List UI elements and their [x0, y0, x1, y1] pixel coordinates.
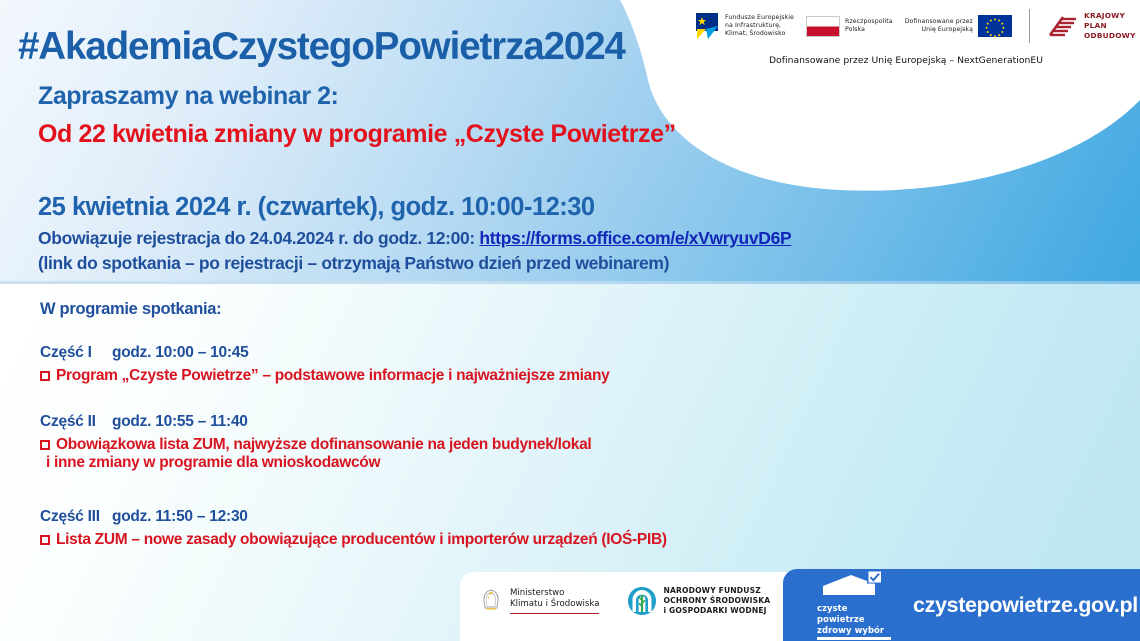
footer-website-panel: czyste powietrze zdrowy wybór czystepowi…	[783, 569, 1140, 641]
eu-funding-subtitle: Dofinansowane przez Unię Europejską – Ne…	[676, 55, 1136, 66]
section-3-item: Lista ZUM – nowe zasady obowiązujące pro…	[40, 531, 667, 549]
program-section-3: Część IIIgodz. 11:50 – 12:30 Lista ZUM –…	[40, 508, 667, 549]
campaign-hashtag: #AkademiaCzystegoPowietrza2024	[18, 25, 625, 69]
nfosigw-line-3: i GOSPODARKI WODNEJ	[663, 606, 770, 616]
header-band: Fundusze Europejskie na Infrastrukturę, …	[0, 0, 1140, 284]
section-1-part-label: Część I	[40, 344, 112, 362]
funds-logo-caption: Fundusze Europejskie na Infrastrukturę, …	[725, 14, 794, 38]
house-check-icon	[817, 570, 891, 596]
ministry-line-2: Klimatu i Środowiska	[510, 599, 599, 610]
section-1-title: Część Igodz. 10:00 – 10:45	[40, 344, 610, 362]
kpo-logo-unit: KRAJOWY PLAN ODBUDOWY	[1047, 11, 1136, 41]
ministry-underline	[510, 613, 599, 615]
cofinanced-caption: Dofinansowane przez Unię Europejską	[905, 18, 973, 34]
republic-of-poland-unit: Rzeczpospolita Polska	[806, 16, 893, 37]
webinar-subject-line: Od 22 kwietnia zmiany w programie „Czyst…	[38, 120, 676, 149]
czyste-powietrze-badge: czyste powietrze zdrowy wybór	[817, 570, 891, 640]
badge-underline	[817, 637, 891, 639]
checkbox-square-icon	[40, 371, 50, 381]
registration-prefix-text: Obowiązuje rejestracja do 24.04.2024 r. …	[38, 228, 479, 248]
nfosigw-caption: NARODOWY FUNDUSZ OCHRONY ŚRODOWISKA i GO…	[663, 586, 770, 616]
polish-eagle-icon	[478, 588, 504, 614]
section-2-part-label: Część II	[40, 413, 112, 431]
section-3-part-label: Część III	[40, 508, 112, 526]
registration-line: Obowiązuje rejestracja do 24.04.2024 r. …	[38, 228, 791, 249]
nfosigw-line-1: NARODOWY FUNDUSZ	[663, 586, 770, 596]
section-3-time: godz. 11:50 – 12:30	[112, 508, 248, 525]
section-2-title: Część IIgodz. 10:55 – 11:40	[40, 413, 591, 431]
section-2-item-continuation: i inne zmiany w programie dla wnioskodaw…	[40, 454, 591, 472]
website-url[interactable]: czystepowietrze.gov.pl	[913, 593, 1138, 618]
eu-logo-row: Fundusze Europejskie na Infrastrukturę, …	[676, 6, 1136, 46]
section-2-item-text: Obowiązkowa lista ZUM, najwyższe dofinan…	[56, 436, 591, 454]
nfosigw-logo-unit: NARODOWY FUNDUSZ OCHRONY ŚRODOWISKA i GO…	[627, 586, 770, 616]
badge-caption: czyste powietrze zdrowy wybór	[817, 603, 891, 640]
funds-logo-unit: Fundusze Europejskie na Infrastrukturę, …	[694, 12, 794, 40]
section-1-item-text: Program „Czyste Powietrze” – podstawowe …	[56, 367, 610, 385]
logo-divider	[1029, 9, 1030, 43]
ministry-caption: Ministerstwo Klimatu i Środowiska	[510, 588, 599, 614]
eu-flag-icon	[978, 15, 1012, 37]
eu-logo-strip: Fundusze Europejskie na Infrastrukturę, …	[676, 6, 1136, 82]
checkbox-square-icon	[40, 535, 50, 545]
checkbox-square-icon	[40, 440, 50, 450]
nfosigw-tree-icon	[627, 586, 657, 616]
section-3-title: Część IIIgodz. 11:50 – 12:30	[40, 508, 667, 526]
registration-form-link[interactable]: https://forms.office.com/e/xVwryuvD6P	[479, 228, 791, 248]
european-funds-icon	[694, 12, 720, 40]
ministry-logo-unit: Ministerstwo Klimatu i Środowiska	[478, 588, 599, 614]
program-heading: W programie spotkania:	[40, 300, 221, 319]
nfosigw-line-2: OCHRONY ŚRODOWISKA	[663, 596, 770, 606]
webinar-poster: Fundusze Europejskie na Infrastrukturę, …	[0, 0, 1140, 641]
section-1-time: godz. 10:00 – 10:45	[112, 344, 249, 361]
section-2-time: godz. 10:55 – 11:40	[112, 413, 248, 430]
section-2-item: Obowiązkowa lista ZUM, najwyższe dofinan…	[40, 436, 591, 454]
badge-line-1: czyste powietrze	[817, 603, 891, 625]
section-1-item: Program „Czyste Powietrze” – podstawowe …	[40, 367, 610, 385]
registration-note-line: (link do spotkania – po rejestracji – ot…	[38, 253, 669, 274]
badge-line-2: zdrowy wybór	[817, 625, 891, 636]
webinar-invitation-line: Zapraszamy na webinar 2:	[38, 82, 338, 111]
kpo-caption: KRAJOWY PLAN ODBUDOWY	[1084, 11, 1136, 41]
webinar-datetime-line: 25 kwietnia 2024 r. (czwartek), godz. 10…	[38, 193, 595, 222]
program-section-2: Część IIgodz. 10:55 – 11:40 Obowiązkowa …	[40, 413, 591, 472]
kpo-icon	[1047, 14, 1079, 38]
program-section-1: Część Igodz. 10:00 – 10:45 Program „Czys…	[40, 344, 610, 385]
republic-caption: Rzeczpospolita Polska	[845, 18, 893, 34]
poland-flag-icon	[806, 16, 840, 37]
section-3-item-text: Lista ZUM – nowe zasady obowiązujące pro…	[56, 531, 667, 549]
ministry-line-1: Ministerstwo	[510, 588, 599, 599]
cofinanced-eu-unit: Dofinansowane przez Unię Europejską	[905, 15, 1012, 37]
